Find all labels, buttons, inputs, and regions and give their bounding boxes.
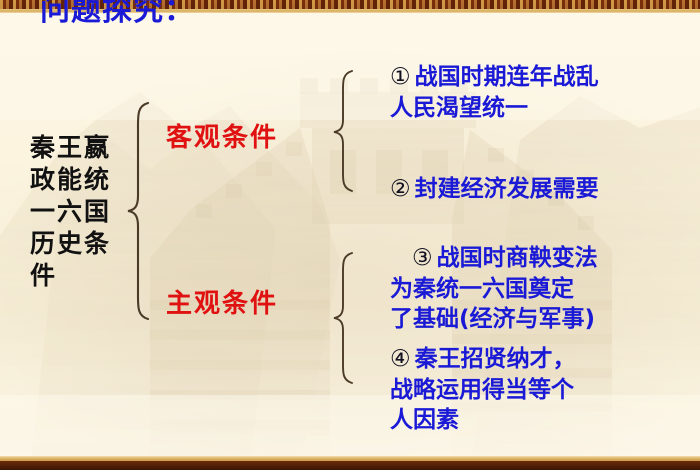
point-item-2: ②封建经济发展需要 [390, 174, 599, 205]
point-line: 人民渴望统一 [390, 93, 599, 124]
point-line: ①战国时期连年战乱 [390, 62, 599, 93]
point-marker-3: ③ [412, 245, 433, 271]
point-line: 为秦统一六国奠定 [390, 274, 598, 305]
point-marker-1: ① [390, 64, 411, 90]
point-marker-4: ④ [390, 346, 411, 372]
bottom-decorative-border [0, 461, 700, 470]
slide-canvas: 问题探究： 秦王嬴 政能统 一六国 历史条 件 客观条件 主观条件 ①战国时期连… [0, 0, 700, 470]
point-marker-2: ② [390, 176, 411, 202]
condition-label-subjective: 主观条件 [166, 283, 278, 320]
point-line: ③战国时商鞅变法 [390, 243, 598, 274]
point-item-3: ③战国时商鞅变法 为秦统一六国奠定 了基础(经济与军事) [390, 243, 598, 335]
stem-line: 历史条 [30, 228, 136, 260]
condition-label-objective: 客观条件 [166, 117, 278, 154]
point-line: ④秦王招贤纳才， [390, 344, 576, 375]
stem-line: 政能统 [30, 164, 136, 196]
point-item-1: ①战国时期连年战乱 人民渴望统一 [390, 62, 599, 123]
brace-objective [332, 68, 356, 194]
stem-line: 件 [30, 260, 136, 292]
point-line: 战略运用得当等个 [390, 375, 576, 406]
stem-line: 秦王嬴 [30, 132, 136, 164]
point-line: ②封建经济发展需要 [390, 174, 599, 205]
point-text: 战国时期连年战乱 [415, 64, 599, 90]
brace-subjective [332, 250, 356, 386]
point-text: 秦王招贤纳才， [415, 346, 576, 372]
point-item-4: ④秦王招贤纳才， 战略运用得当等个 人因素 [390, 344, 576, 436]
point-line: 人因素 [390, 405, 576, 436]
point-line: 了基础(经济与军事) [390, 304, 598, 335]
subject-stem: 秦王嬴 政能统 一六国 历史条 件 [30, 132, 136, 292]
stem-line: 一六国 [30, 196, 136, 228]
point-text: 封建经济发展需要 [415, 176, 599, 202]
slide-title: 问题探究： [40, 0, 195, 29]
point-text: 战国时商鞅变法 [437, 245, 598, 271]
